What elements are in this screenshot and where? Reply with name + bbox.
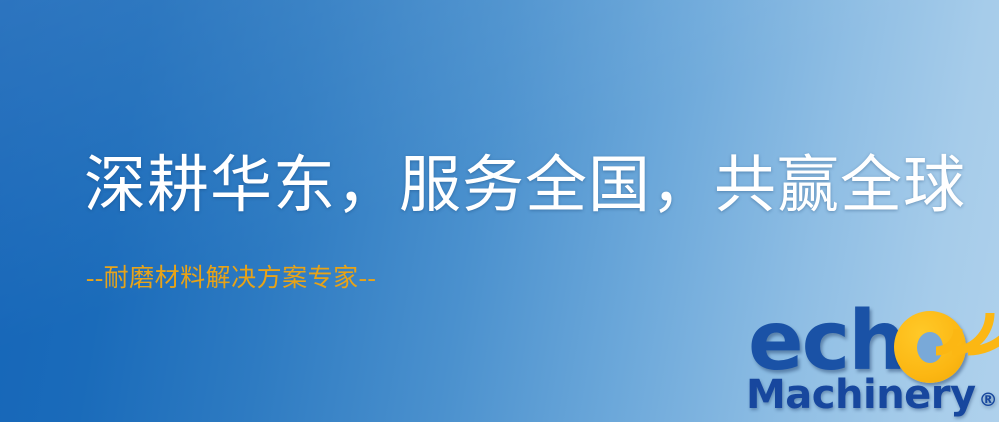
logo-tagline: Machinery® (746, 375, 997, 415)
company-logo[interactable]: ech Machinery® (744, 297, 999, 422)
signal-arcs-icon (930, 295, 999, 357)
registered-trademark-icon: ® (979, 389, 998, 411)
logo-tagline-text: Machinery (746, 372, 976, 418)
logo-echo-text: ech (748, 301, 905, 383)
hero-banner: 深耕华东，服务全国，共赢全球 --耐磨材料解决方案专家-- ech Ma (0, 0, 999, 422)
banner-subtitle: --耐磨材料解决方案专家-- (86, 266, 376, 291)
banner-headline: 深耕华东，服务全国，共赢全球 (84, 155, 966, 217)
logo-wordmark: ech (744, 297, 999, 383)
